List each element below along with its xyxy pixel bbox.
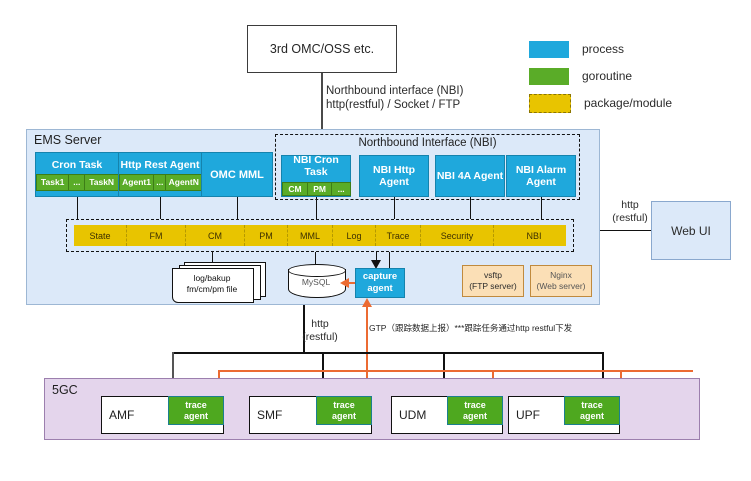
- trace-agent-line-2: agent: [463, 411, 487, 422]
- network-function-amf[interactable]: AMF trace agent: [101, 396, 224, 434]
- process-nbi-4a-agent-label: NBI 4A Agent: [437, 170, 503, 182]
- network-function-smf-label: SMF: [257, 408, 282, 422]
- legend-label-process: process: [582, 42, 624, 56]
- http-mid-line-2: (restful): [297, 331, 343, 344]
- mysql-database: MySQL: [288, 264, 344, 301]
- trace-agent-amf[interactable]: trace agent: [168, 396, 224, 425]
- gtp-annotation: GTP（跟踪数据上报）***跟踪任务通过http restful下发: [369, 322, 639, 334]
- nginx-name: Nginx: [550, 270, 572, 281]
- log-backup-files-label: log/bakup fm/cm/pm file: [172, 273, 252, 295]
- capture-agent-process[interactable]: capture agent: [355, 268, 405, 298]
- northbound-interface-group-title: Northbound Interface (NBI): [276, 137, 579, 149]
- bus-horizontal-ems-to-5gc: [172, 352, 603, 354]
- connector-nbi-http-agent-to-modules: [394, 197, 395, 219]
- nginx-server[interactable]: Nginx (Web server): [530, 265, 592, 297]
- trace-agent-line-2: agent: [184, 411, 208, 422]
- connector-ems-to-web-ui: [600, 230, 651, 231]
- process-cron-task[interactable]: Cron Task Task1 ... TaskN: [35, 152, 119, 197]
- vsftp-server[interactable]: vsftp (FTP server): [462, 265, 524, 297]
- trace-agent-line-2: agent: [580, 411, 604, 422]
- legend: process goroutine package/module: [529, 40, 739, 121]
- trace-agent-line-1: trace: [464, 400, 486, 411]
- trace-agent-line-1: trace: [333, 400, 355, 411]
- docs-line-2: fm/cm/pm file: [172, 284, 252, 295]
- trace-agent-upf[interactable]: trace agent: [564, 396, 620, 425]
- module-pm[interactable]: PM: [245, 225, 288, 246]
- module-trace[interactable]: Trace: [376, 225, 421, 246]
- module-fm[interactable]: FM: [127, 225, 186, 246]
- goroutine-ellipsis: ...: [153, 174, 166, 191]
- legend-swatch-goroutine: [529, 68, 569, 85]
- legend-item-package-module: package/module: [529, 94, 739, 112]
- legend-swatch-package-module: [529, 94, 571, 113]
- process-nbi-http-agent[interactable]: NBI Http Agent: [359, 155, 429, 197]
- goroutine-cm[interactable]: CM: [282, 182, 308, 196]
- process-nbi-alarm-agent[interactable]: NBI Alarm Agent: [506, 155, 576, 197]
- connector-nbi-cron-task-to-modules: [316, 197, 317, 219]
- capture-agent-line-1: capture: [363, 271, 397, 283]
- network-function-udm-label: UDM: [399, 408, 426, 422]
- module-cm[interactable]: CM: [186, 225, 245, 246]
- module-security[interactable]: Security: [421, 225, 494, 246]
- vsftp-name: vsftp: [484, 270, 502, 281]
- web-ui-box[interactable]: Web UI: [651, 201, 731, 260]
- third-party-omc-oss-box: 3rd OMC/OSS etc.: [247, 25, 397, 73]
- connector-modules-to-mysql: [315, 252, 316, 264]
- legend-label-goroutine: goroutine: [582, 69, 632, 83]
- network-function-upf-label: UPF: [516, 408, 540, 422]
- process-nbi-cron-task[interactable]: NBI Cron Task CM PM ...: [281, 155, 351, 197]
- process-nbi-alarm-agent-label: NBI Alarm Agent: [507, 164, 575, 188]
- connector-nbi-4a-agent-to-modules: [470, 197, 471, 219]
- process-cron-task-label: Cron Task: [52, 155, 103, 171]
- mysql-cylinder-top: [288, 264, 346, 277]
- legend-swatch-process: [529, 41, 569, 58]
- goroutine-lane-http-rest-agent: Agent1 ... AgentN: [119, 174, 201, 191]
- docs-line-1: log/bakup: [172, 273, 252, 284]
- connector-omc-mml-to-modules: [237, 197, 238, 219]
- trace-agent-line-1: trace: [581, 400, 603, 411]
- ems-server-title: EMS Server: [34, 133, 101, 147]
- 5gc-title: 5GC: [52, 383, 78, 397]
- process-nbi-http-agent-label: NBI Http Agent: [360, 164, 428, 188]
- legend-label-package-module: package/module: [584, 96, 672, 110]
- goroutine-agent1[interactable]: Agent1: [119, 174, 154, 191]
- goroutine-ellipsis: ...: [331, 182, 351, 196]
- module-log[interactable]: Log: [333, 225, 376, 246]
- process-omc-mml[interactable]: OMC MML: [201, 152, 273, 197]
- arrowhead-capture-agent-to-mysql: [340, 278, 349, 288]
- goroutine-ellipsis: ...: [68, 174, 85, 191]
- process-nbi-cron-task-label: NBI Cron Task: [282, 152, 350, 178]
- process-omc-mml-label: OMC MML: [210, 169, 264, 181]
- log-backup-files: log/bakup fm/cm/pm file: [172, 262, 264, 302]
- process-http-rest-agent[interactable]: Http Rest Agent Agent1 ... AgentN: [118, 152, 202, 197]
- trace-agent-line-1: trace: [185, 400, 207, 411]
- goroutine-pm[interactable]: PM: [307, 182, 332, 196]
- network-function-amf-label: AMF: [109, 408, 134, 422]
- network-function-upf[interactable]: UPF trace agent: [508, 396, 620, 434]
- capture-agent-line-2: agent: [367, 283, 392, 295]
- process-nbi-4a-agent[interactable]: NBI 4A Agent: [435, 155, 505, 197]
- connector-nbi-alarm-agent-to-modules: [541, 197, 542, 219]
- module-nbi[interactable]: NBI: [494, 225, 574, 246]
- http-mid-line-1: http: [297, 318, 343, 331]
- module-state[interactable]: State: [74, 225, 127, 246]
- legend-item-process: process: [529, 40, 739, 58]
- nginx-role: (Web server): [537, 281, 586, 292]
- legend-item-goroutine: goroutine: [529, 67, 739, 85]
- goroutine-agentn[interactable]: AgentN: [165, 174, 202, 191]
- web-ui-link-line-2: (restful): [609, 212, 651, 225]
- network-function-udm[interactable]: UDM trace agent: [391, 396, 503, 434]
- web-ui-label: Web UI: [671, 224, 711, 238]
- connector-capture-agent-top-stub: [389, 252, 390, 269]
- vsftp-role: (FTP server): [469, 281, 517, 292]
- trace-agent-line-2: agent: [332, 411, 356, 422]
- trace-agent-smf[interactable]: trace agent: [316, 396, 372, 425]
- arrowhead-gtp-uplink: [362, 298, 372, 307]
- trace-agent-udm[interactable]: trace agent: [447, 396, 503, 425]
- module-mml[interactable]: MML: [288, 225, 333, 246]
- web-ui-link-label: http (restful): [609, 199, 651, 225]
- goroutine-lane-nbi-cron-task: CM PM ...: [282, 182, 350, 196]
- gtp-bus-horizontal: [218, 370, 693, 372]
- connector-cron-task-to-modules: [77, 197, 78, 219]
- connector-http-rest-agent-to-modules: [160, 197, 161, 219]
- goroutine-task1[interactable]: Task1: [36, 174, 69, 191]
- http-restful-label: http (restful): [297, 318, 343, 344]
- goroutine-taskn[interactable]: TaskN: [84, 174, 119, 191]
- third-party-omc-oss-label: 3rd OMC/OSS etc.: [270, 42, 374, 56]
- web-ui-link-line-1: http: [609, 199, 651, 212]
- goroutine-lane-cron-task: Task1 ... TaskN: [36, 174, 118, 191]
- mysql-label: MySQL: [288, 277, 344, 287]
- connector-omc-to-ems: [321, 73, 323, 130]
- network-function-smf[interactable]: SMF trace agent: [249, 396, 372, 434]
- process-http-rest-agent-label: Http Rest Agent: [121, 155, 200, 171]
- module-bar: State FM CM PM MML Log Trace Security NB…: [74, 225, 566, 246]
